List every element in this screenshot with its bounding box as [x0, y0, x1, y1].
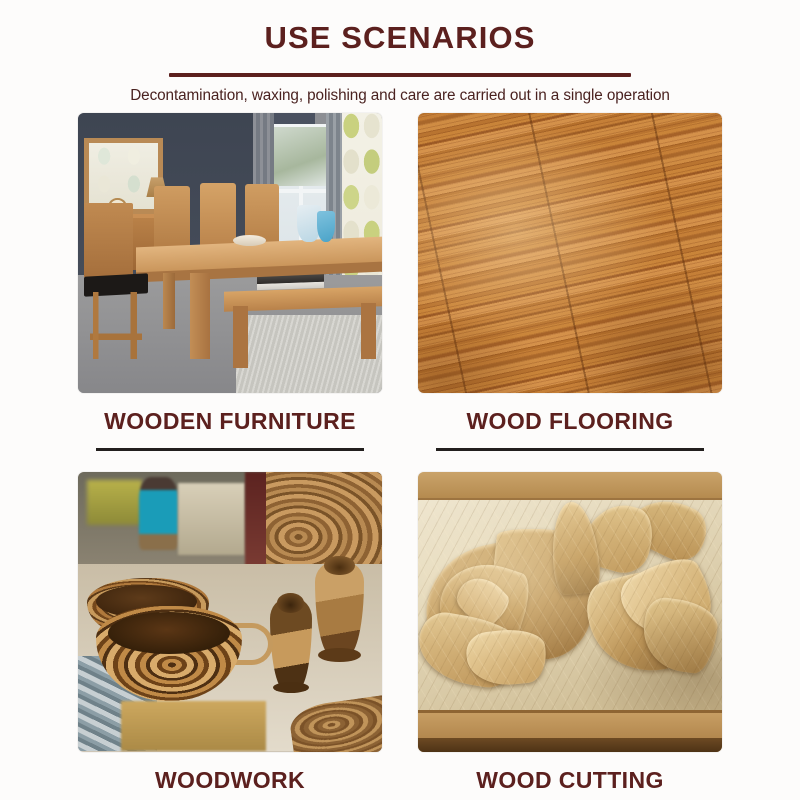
scenario-caption: WOODWORK — [78, 752, 382, 792]
wood-mat-shape — [121, 701, 267, 751]
front-chair-legs-shape — [90, 292, 142, 359]
background-shelf-shape — [87, 480, 142, 525]
wood-vase-foot-shape — [273, 682, 309, 693]
wood-vase-foot-shape — [318, 648, 361, 662]
title-divider — [169, 73, 631, 77]
blue-jug-shape — [317, 211, 335, 242]
front-chair-back-shape — [84, 203, 133, 279]
scenario-card-wooden-furniture[interactable]: WOODEN FURNITURE — [78, 113, 382, 451]
table-leg-shape — [163, 273, 175, 329]
window-foliage-shape — [273, 127, 328, 186]
panel-base-shadow-shape — [418, 738, 722, 752]
bench-leg-shape — [361, 303, 376, 359]
books-shape — [257, 274, 324, 290]
lighting-overlay — [418, 500, 722, 710]
scenario-caption: WOODEN FURNITURE — [78, 393, 382, 433]
wood-vase-neck-shape — [324, 556, 354, 576]
wood-cutting-photo — [418, 472, 722, 752]
wood-bowl-interior-shape — [108, 612, 230, 654]
scenario-card-wood-flooring[interactable]: WOOD FLOORING — [418, 113, 722, 451]
chair-back-shape — [154, 186, 190, 253]
page-subtitle: Decontamination, waxing, polishing and c… — [0, 87, 800, 105]
scenario-caption: WOOD FLOORING — [418, 393, 722, 433]
background-chair-shape — [178, 483, 245, 556]
woodwork-photo — [78, 472, 382, 752]
background-person-shape — [139, 477, 179, 550]
page-title: USE SCENARIOS — [0, 22, 800, 53]
mirror-glass-shape — [89, 143, 158, 209]
wooden-furniture-photo — [78, 113, 382, 393]
use-scenarios-page: USE SCENARIOS Decontamination, waxing, p… — [0, 0, 800, 800]
table-leg-shape — [190, 273, 210, 360]
panel-frame-top-shape — [418, 472, 722, 500]
scenario-card-wood-cutting[interactable]: WOOD CUTTING — [418, 451, 722, 800]
bench-leg-shape — [233, 306, 248, 368]
wood-flooring-photo — [418, 113, 722, 393]
header: USE SCENARIOS Decontamination, waxing, p… — [0, 0, 800, 105]
lighting-overlay — [418, 113, 722, 393]
scenario-caption: WOOD CUTTING — [418, 752, 722, 792]
carved-panel-shape — [418, 500, 722, 710]
scenario-card-woodwork[interactable]: WOODWORK — [78, 451, 382, 800]
wood-vase-shape — [315, 561, 364, 656]
bowl-shape — [233, 235, 266, 246]
scenario-grid: WOODEN FURNITURE WOOD FLOORING — [78, 113, 722, 800]
